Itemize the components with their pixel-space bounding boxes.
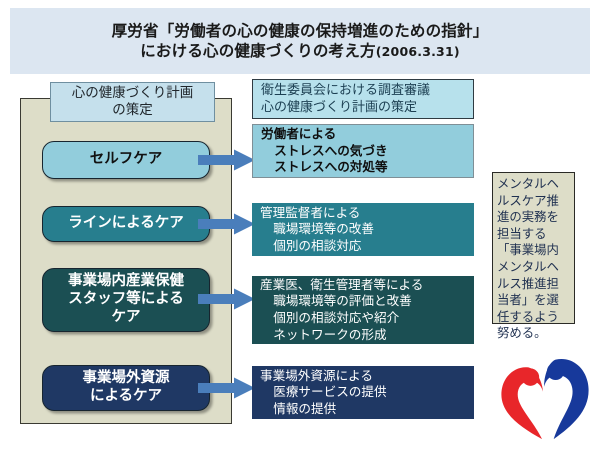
plan-box-line-1: 心の健康づくり計画 [72, 85, 194, 102]
external-label-line-1: 事業場外資源 [83, 370, 170, 386]
care-box-line-care[interactable]: ラインによるケア [42, 206, 210, 242]
line-desc-line-2: 職場環境等の改善 [260, 221, 468, 238]
internal-label-line-2: スタッフ等による [68, 291, 184, 307]
title-date: (2006.3.31) [376, 44, 460, 59]
title-line-1: 厚労省「労働者の心の健康の保持増進のための指針」 [112, 21, 489, 41]
internal-desc-line-2: 職場環境等の評価と改善 [260, 293, 468, 310]
external-label-line-2: によるケア [90, 388, 162, 404]
care-box-self-care-label: セルフケア [84, 151, 169, 169]
external-desc-line-2: 医療サービスの提供 [260, 384, 468, 401]
arrow-line-care-icon [198, 213, 256, 235]
internal-desc-line-1: 産業医、衛生管理者等による [260, 277, 468, 294]
internal-desc-line-4: ネットワークの形成 [260, 327, 468, 344]
description-internal-staff-care: 産業医、衛生管理者等による 職場環境等の評価と改善 個別の相談対応や紹介 ネット… [252, 276, 474, 344]
arrow-internal-staff-care-icon [198, 288, 256, 310]
committee-line-1: 衛生委員会における調査審議 [261, 82, 473, 99]
arrow-external-resource-care-icon [198, 377, 256, 399]
external-desc-line-1: 事業場外資源による [260, 368, 468, 385]
care-box-line-care-label: ラインによるケア [62, 215, 190, 233]
internal-label-line-1: 事業場内産業保健 [68, 273, 184, 289]
plan-box-line-2: の策定 [112, 102, 153, 119]
title-line-2: における心の健康づくりの考え方(2006.3.31) [140, 41, 460, 61]
care-box-external-resource-care[interactable]: 事業場外資源 によるケア [42, 365, 210, 411]
slide-canvas: 厚労省「労働者の心の健康の保持増進のための指針」 における心の健康づくりの考え方… [0, 0, 600, 450]
line-desc-line-3: 個別の相談対応 [260, 238, 468, 255]
health-promotion-heart-logo-icon [495, 350, 593, 442]
care-box-internal-staff-care[interactable]: 事業場内産業保健 スタッフ等による ケア [42, 268, 210, 332]
care-box-self-care[interactable]: セルフケア [42, 141, 210, 179]
title-line-2-main: における心の健康づくりの考え方 [140, 42, 376, 60]
internal-label-line-3: ケア [112, 309, 141, 325]
slide-title-banner: 厚労省「労働者の心の健康の保持増進のための指針」 における心の健康づくりの考え方… [10, 8, 590, 74]
self-desc-line-1: 労働者による [261, 126, 467, 143]
care-box-internal-staff-care-label: 事業場内産業保健 スタッフ等による ケア [62, 273, 190, 326]
committee-line-2: 心の健康づくり計画の策定 [261, 99, 473, 116]
arrow-self-care-icon [198, 149, 256, 171]
self-desc-line-2: ストレスへの気づき [261, 143, 467, 160]
description-line-care: 管理監督者による 職場環境等の改善 個別の相談対応 [252, 203, 474, 256]
description-external-resource-care: 事業場外資源による 医療サービスの提供 情報の提供 [252, 366, 474, 419]
mental-health-promoter-note: メンタルヘルスケア推進の実務を担当する「事業場内メンタルヘルス推進担当者」を選任… [492, 172, 575, 324]
description-committee: 衛生委員会における調査審議 心の健康づくり計画の策定 [252, 79, 474, 119]
line-desc-line-1: 管理監督者による [260, 205, 468, 222]
plan-formulation-box: 心の健康づくり計画 の策定 [50, 82, 215, 122]
care-box-external-resource-care-label: 事業場外資源 によるケア [77, 370, 176, 405]
internal-desc-line-3: 個別の相談対応や紹介 [260, 310, 468, 327]
self-desc-line-3: ストレスへの対処等 [261, 159, 467, 176]
description-self-care: 労働者による ストレスへの気づき ストレスへの対処等 [252, 124, 474, 178]
external-desc-line-3: 情報の提供 [260, 401, 468, 418]
